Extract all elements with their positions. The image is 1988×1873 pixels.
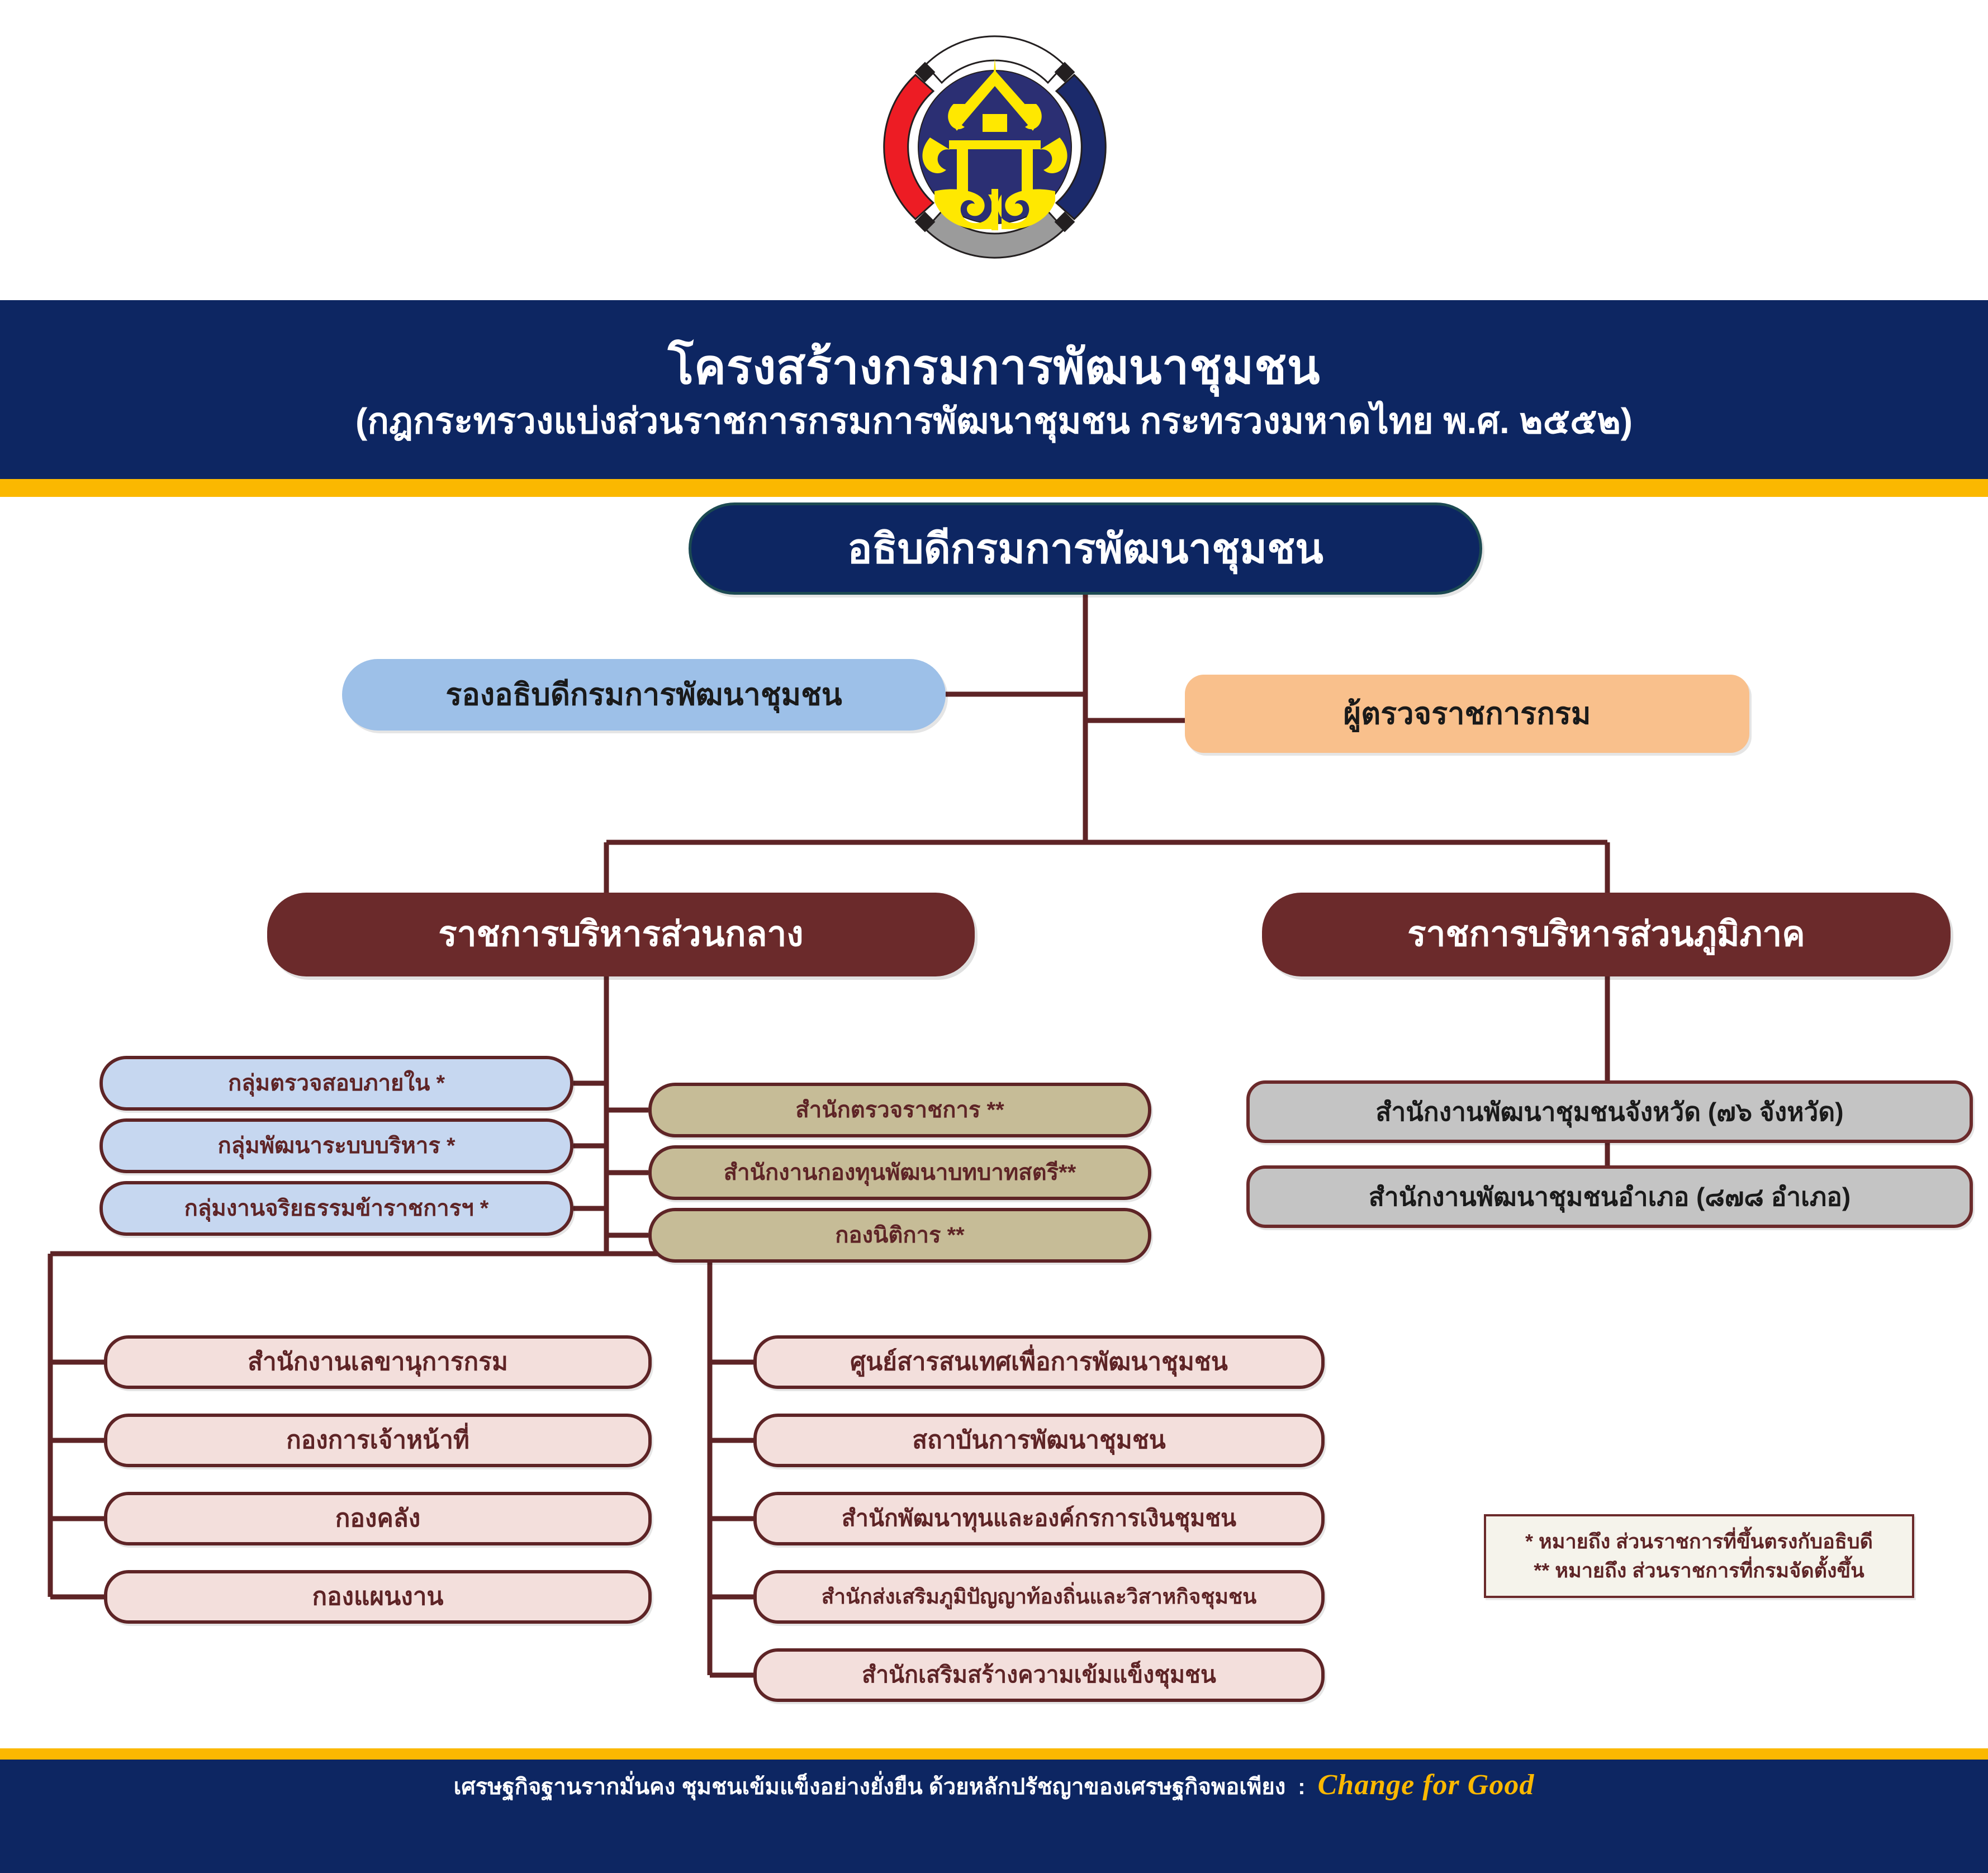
footer-tagline: Change for Good bbox=[1318, 1768, 1535, 1801]
logo-area bbox=[0, 0, 1988, 296]
node-label: สำนักงานกองทุนพัฒนาบทบาทสตรี** bbox=[716, 1161, 1084, 1184]
node-direct-unit[interactable]: กลุ่มพัฒนาระบบบริหาร * bbox=[99, 1118, 573, 1173]
node-central-unit[interactable]: สำนักพัฒนาทุนและองค์กรการเงินชุมชน bbox=[753, 1492, 1325, 1545]
node-label: สถาบันการพัฒนาชุมชน bbox=[904, 1428, 1174, 1453]
node-label: ผู้ตรวจราชการกรม bbox=[1336, 698, 1599, 730]
node-deputy-director-general[interactable]: รองอธิบดีกรมการพัฒนาชุมชน bbox=[342, 659, 946, 731]
node-label: สำนักพัฒนาทุนและองค์กรการเงินชุมชน bbox=[834, 1506, 1244, 1530]
node-regional-administration[interactable]: ราชการบริหารส่วนภูมิภาค bbox=[1262, 893, 1951, 976]
page-subtitle: (กฎกระทรวงแบ่งส่วนราชการกรมการพัฒนาชุมชน… bbox=[355, 401, 1633, 442]
node-direct-unit[interactable]: กลุ่มตรวจสอบภายใน * bbox=[99, 1056, 573, 1111]
footer-banner: เศรษฐกิจฐานรากมั่นคง ชุมชนเข้มแข็งอย่างย… bbox=[0, 1760, 1988, 1873]
node-label: สำนักงานพัฒนาชุมชนจังหวัด (๗๖ จังหวัด) bbox=[1368, 1098, 1851, 1125]
node-label: สำนักงานพัฒนาชุมชนอำเภอ (๘๗๘ อำเภอ) bbox=[1361, 1183, 1858, 1210]
node-label: ราชการบริหารส่วนกลาง bbox=[430, 916, 811, 952]
legend-line-double-asterisk: ** หมายถึง ส่วนราชการที่กรมจัดตั้งขึ้น bbox=[1534, 1556, 1864, 1585]
node-dept-established-unit[interactable]: กองนิติการ ** bbox=[648, 1208, 1151, 1263]
node-central-unit[interactable]: กองคลัง bbox=[104, 1492, 652, 1545]
node-central-unit[interactable]: กองการเจ้าหน้าที่ bbox=[104, 1414, 652, 1467]
node-dept-established-unit[interactable]: สำนักตรวจราชการ ** bbox=[648, 1083, 1151, 1137]
node-district-office[interactable]: สำนักงานพัฒนาชุมชนอำเภอ (๘๗๘ อำเภอ) bbox=[1246, 1165, 1973, 1228]
legend-line-single-asterisk: * หมายถึง ส่วนราชการที่ขึ้นตรงกับอธิบดี bbox=[1525, 1527, 1873, 1556]
node-label: สำนักส่งเสริมภูมิปัญญาท้องถิ่นและวิสาหกิ… bbox=[814, 1586, 1265, 1608]
node-director-general[interactable]: อธิบดีกรมการพัฒนาชุมชน bbox=[689, 502, 1482, 595]
footer-gold-divider bbox=[0, 1748, 1988, 1760]
cdd-emblem-icon bbox=[855, 4, 1135, 290]
node-central-unit[interactable]: กองแผนงาน bbox=[104, 1570, 652, 1624]
header-gold-divider bbox=[0, 479, 1988, 497]
node-label: กองแผนงาน bbox=[304, 1584, 451, 1610]
node-direct-unit[interactable]: กลุ่มงานจริยธรรมข้าราชการฯ * bbox=[99, 1181, 573, 1236]
footer-slogan: เศรษฐกิจฐานรากมั่นคง ชุมชนเข้มแข็งอย่างย… bbox=[454, 1768, 1286, 1804]
node-label: กลุ่มตรวจสอบภายใน * bbox=[220, 1071, 453, 1095]
node-central-unit[interactable]: สำนักงานเลขานุการกรม bbox=[104, 1335, 652, 1389]
node-label: สำนักตรวจราชการ ** bbox=[787, 1098, 1012, 1122]
node-central-unit[interactable]: สถาบันการพัฒนาชุมชน bbox=[753, 1414, 1325, 1467]
node-central-unit[interactable]: สำนักส่งเสริมภูมิปัญญาท้องถิ่นและวิสาหกิ… bbox=[753, 1570, 1325, 1624]
node-label: กองการเจ้าหน้าที่ bbox=[278, 1428, 477, 1453]
node-label: อธิบดีกรมการพัฒนาชุมชน bbox=[839, 527, 1331, 571]
page-title: โครงสร้างกรมการพัฒนาชุมชน bbox=[668, 340, 1320, 394]
node-label: ราชการบริหารส่วนภูมิภาค bbox=[1399, 916, 1813, 952]
node-provincial-office[interactable]: สำนักงานพัฒนาชุมชนจังหวัด (๗๖ จังหวัด) bbox=[1246, 1080, 1973, 1143]
node-central-administration[interactable]: ราชการบริหารส่วนกลาง bbox=[267, 893, 975, 976]
footer-separator: : bbox=[1285, 1775, 1317, 1800]
node-label: สำนักเสริมสร้างความเข้มแข็งชุมชน bbox=[854, 1663, 1224, 1687]
node-label: รองอธิบดีกรมการพัฒนาชุมชน bbox=[438, 679, 850, 711]
header-banner: โครงสร้างกรมการพัฒนาชุมชน (กฎกระทรวงแบ่ง… bbox=[0, 300, 1988, 479]
node-central-unit[interactable]: ศูนย์สารสนเทศเพื่อการพัฒนาชุมชน bbox=[753, 1335, 1325, 1389]
node-label: กลุ่มงานจริยธรรมข้าราชการฯ * bbox=[177, 1197, 497, 1220]
node-label: ศูนย์สารสนเทศเพื่อการพัฒนาชุมชน bbox=[842, 1349, 1236, 1375]
node-label: กลุ่มพัฒนาระบบบริหาร * bbox=[210, 1134, 463, 1158]
node-department-inspector[interactable]: ผู้ตรวจราชการกรม bbox=[1185, 675, 1749, 753]
node-central-unit[interactable]: สำนักเสริมสร้างความเข้มแข็งชุมชน bbox=[753, 1648, 1325, 1702]
node-dept-established-unit[interactable]: สำนักงานกองทุนพัฒนาบทบาทสตรี** bbox=[648, 1145, 1151, 1200]
node-label: กองนิติการ ** bbox=[827, 1224, 972, 1247]
node-label: กองคลัง bbox=[328, 1506, 428, 1531]
node-label: สำนักงานเลขานุการกรม bbox=[240, 1349, 516, 1375]
legend-box: * หมายถึง ส่วนราชการที่ขึ้นตรงกับอธิบดี … bbox=[1484, 1514, 1914, 1598]
